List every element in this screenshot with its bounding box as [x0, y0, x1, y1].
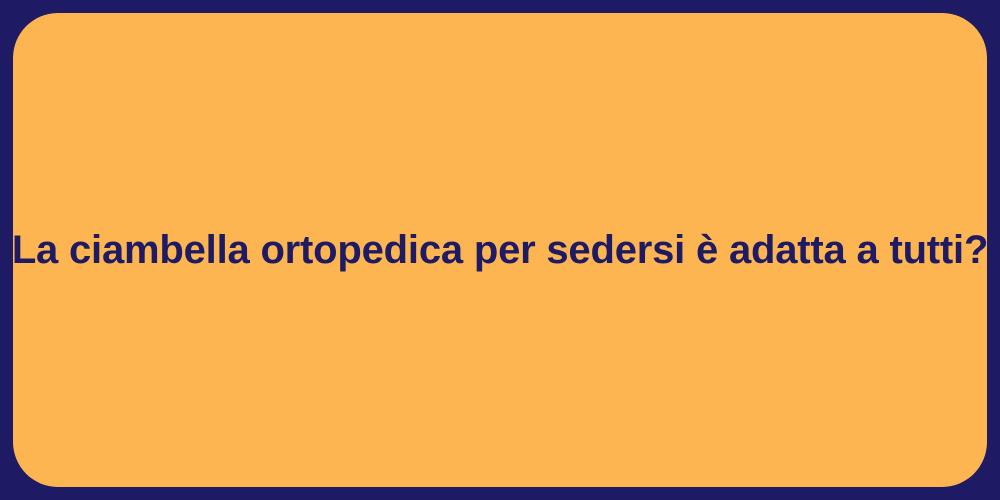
page-title: La ciambella ortopedica per sedersi è ad…	[12, 225, 988, 275]
card-panel: La ciambella ortopedica per sedersi è ad…	[13, 13, 987, 487]
card-frame: La ciambella ortopedica per sedersi è ad…	[0, 0, 1000, 500]
